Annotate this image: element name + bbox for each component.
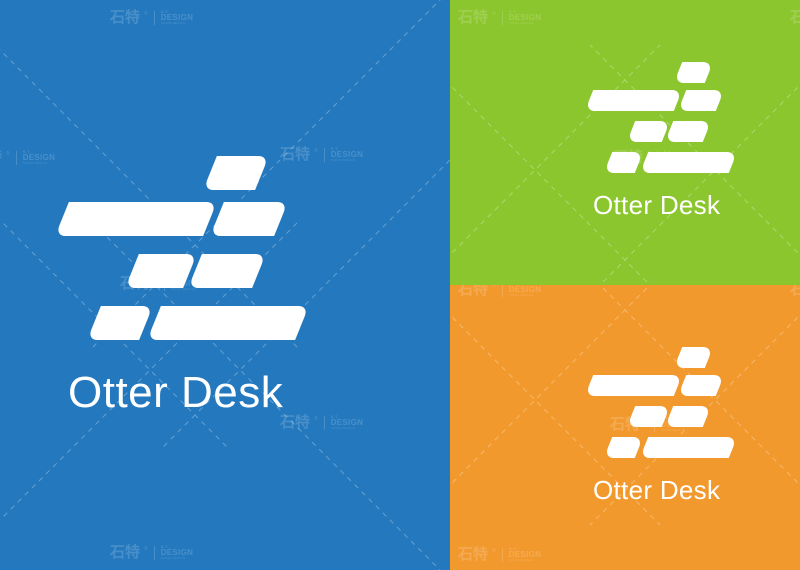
watermark-cjk: 石特 [110, 545, 140, 560]
mark-bar-6 [87, 306, 153, 340]
accent-green-panel: 石特 ® S.T. DESIGN SHIMO DESIGN 石特 ® S.T. [450, 0, 800, 285]
wordmark-orange: Otter Desk [593, 475, 720, 506]
watermark-divider [154, 546, 155, 560]
watermark-line3: SHIMO DESIGN [331, 159, 363, 162]
mark-bar-7 [640, 437, 737, 458]
watermark: 石特 ® S.T. DESIGN SHIMO DESIGN [458, 10, 541, 25]
logo-lockup-green: Otter Desk [589, 62, 733, 188]
watermark-divider [324, 416, 325, 430]
watermark-line1: S.T. [331, 147, 363, 151]
watermark-divider [324, 148, 325, 162]
watermark-line3: SHIMO DESIGN [23, 162, 55, 165]
mark-bar-6 [604, 152, 643, 173]
watermark-line1: S.T. [331, 415, 363, 419]
watermark-cjk: 石特 [280, 415, 310, 430]
watermark-line2: DESIGN [161, 14, 193, 22]
mark-bar-3 [678, 90, 724, 111]
mark-bar-3 [210, 202, 288, 236]
watermark-line1: S.T. [161, 545, 193, 549]
watermark-line3: SHIMO DESIGN [161, 22, 193, 25]
watermark-line3: SHIMO DESIGN [161, 557, 193, 560]
logo-presentation-board: 石特 ® S.T. DESIGN SHIMO DESIGN 石特 ® S.T. … [0, 0, 800, 570]
mark-bar-7 [147, 306, 309, 340]
watermark-registered: ® [144, 11, 148, 17]
watermark-cjk: 石特 [790, 10, 800, 25]
brand-mark [589, 347, 733, 473]
watermark: 石特 ® S.T. DESIGN SHIMO DESIGN [280, 415, 363, 430]
watermark-line2: DESIGN [161, 549, 193, 557]
wordmark-green: Otter Desk [593, 190, 720, 221]
watermark-cjk: 石特 [790, 285, 800, 297]
watermark: 石特 ® S.T. DESIGN SHIMO DESIGN [110, 545, 193, 560]
watermark-registered: ® [314, 148, 318, 154]
mark-bar-2 [585, 90, 682, 111]
watermark-divider [16, 151, 17, 165]
watermark-cjk: 石特 [458, 10, 488, 25]
watermark-line2: DESIGN [509, 286, 541, 294]
mark-bar-6 [604, 437, 643, 458]
mark-bar-3 [678, 375, 724, 396]
watermark-line1: S.T. [161, 10, 193, 14]
watermark-registered: ® [144, 546, 148, 552]
mark-bar-5 [188, 254, 266, 288]
watermark-divider [154, 11, 155, 25]
watermark-registered: ® [6, 151, 10, 157]
accent-panel-column: 石特 ® S.T. DESIGN SHIMO DESIGN 石特 ® S.T. [450, 0, 800, 570]
watermark-cjk: 石特 [458, 547, 488, 562]
mark-bar-4 [627, 121, 670, 142]
watermark-cjk: 石特 [110, 10, 140, 25]
watermark-line1: S.T. [23, 150, 55, 154]
watermark-cjk: 石特 [0, 150, 2, 165]
watermark-registered: ® [492, 285, 496, 289]
watermark-line2: DESIGN [509, 551, 541, 559]
watermark-divider [502, 548, 503, 562]
watermark: 石特 ® S.T. DESIGN SHIMO DESIGN [0, 150, 55, 165]
primary-blue-panel: 石特 ® S.T. DESIGN SHIMO DESIGN 石特 ® S.T. … [0, 0, 450, 570]
watermark-line3: SHIMO DESIGN [509, 22, 541, 25]
mark-bar-5 [665, 406, 711, 427]
watermark-registered: ® [492, 548, 496, 554]
mark-bar-1 [674, 347, 713, 368]
watermark-divider [502, 285, 503, 297]
watermark-line3: SHIMO DESIGN [331, 427, 363, 430]
watermark-registered: ® [314, 416, 318, 422]
watermark-line1: S.T. [509, 285, 541, 286]
logo-lockup-orange: Otter Desk [589, 347, 733, 473]
watermark-cjk: 石特 [458, 285, 488, 297]
mark-bar-4 [627, 406, 670, 427]
mark-bar-5 [665, 121, 711, 142]
mark-bar-7 [640, 152, 737, 173]
wordmark-blue: Otter Desk [68, 368, 283, 418]
watermark-line1: S.T. [509, 10, 541, 14]
watermark-line1: S.T. [509, 547, 541, 551]
watermark: 石特 ® S.T. DESIGN SHIMO DESIGN [110, 10, 193, 25]
logo-lockup-blue: Otter Desk [62, 156, 302, 366]
watermark-line3: SHIMO DESIGN [509, 559, 541, 562]
brand-mark [62, 156, 302, 366]
watermark-line2: DESIGN [331, 419, 363, 427]
mark-bar-1 [203, 156, 269, 190]
watermark-line2: DESIGN [23, 154, 55, 162]
watermark: 石特 ® S.T. DESIGN SHIMO DESIGN [790, 10, 800, 25]
watermark-registered: ® [492, 11, 496, 17]
watermark: 石特 ® S.T. DESIGN SHIMO DESIGN [458, 285, 541, 297]
mark-bar-2 [55, 202, 217, 236]
watermark-line2: DESIGN [509, 14, 541, 22]
watermark: 石特 ® S.T. DESIGN SHIMO DESIGN [790, 285, 800, 297]
brand-mark [589, 62, 733, 188]
watermark: 石特 ® S.T. DESIGN SHIMO DESIGN [458, 547, 541, 562]
mark-bar-4 [125, 254, 197, 288]
watermark-line3: SHIMO DESIGN [509, 294, 541, 297]
mark-bar-2 [585, 375, 682, 396]
accent-orange-panel: 石特 ® S.T. DESIGN SHIMO DESIGN 石特 ® S.T. [450, 285, 800, 570]
watermark-line2: DESIGN [331, 151, 363, 159]
mark-bar-1 [674, 62, 713, 83]
watermark-divider [502, 11, 503, 25]
